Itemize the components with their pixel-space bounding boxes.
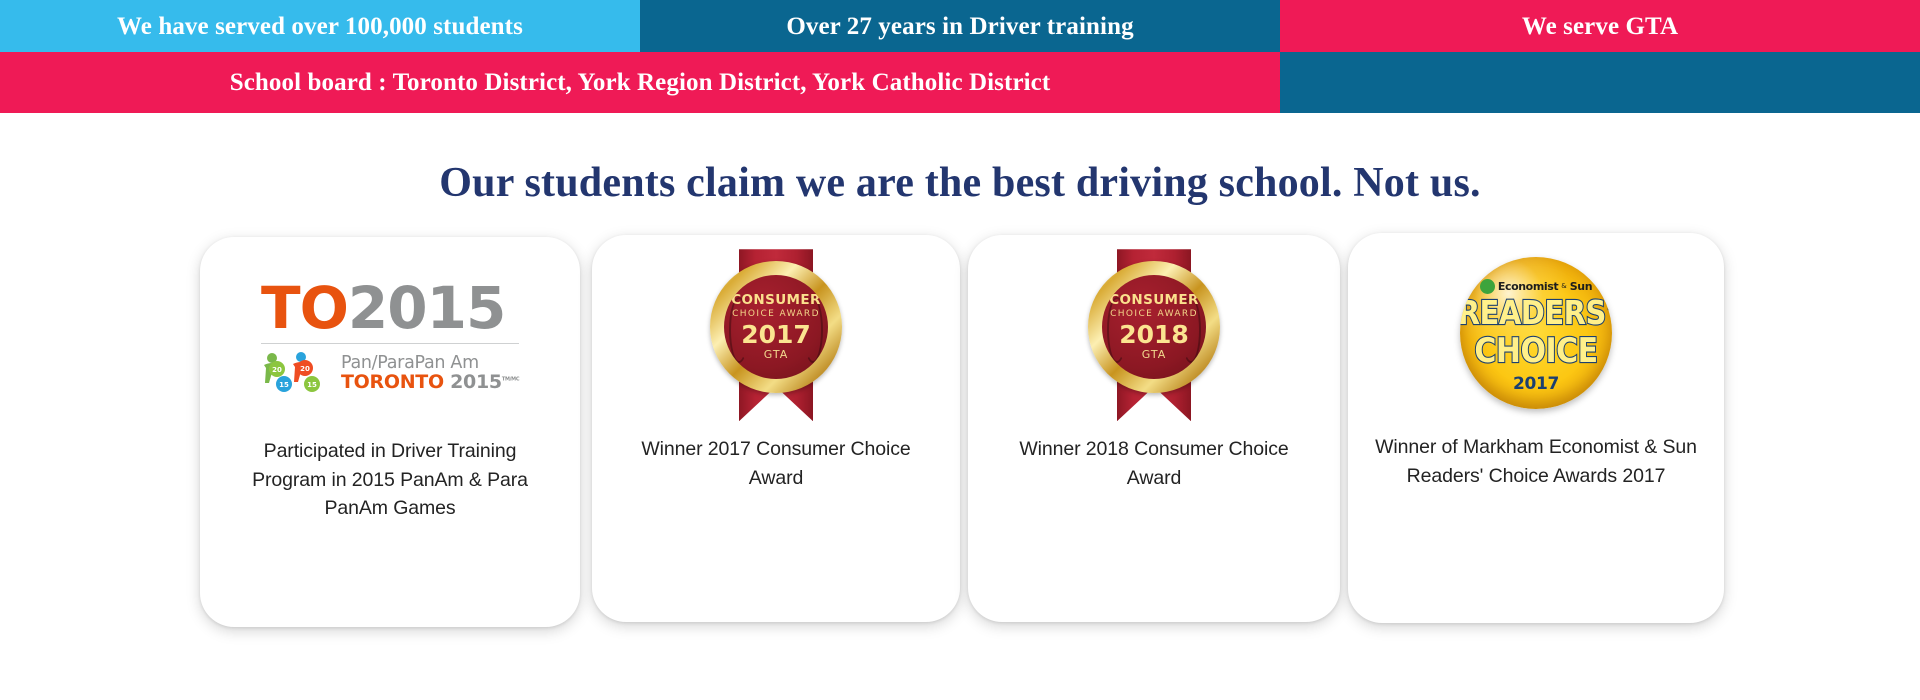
medal-region: GTA [1142, 349, 1167, 360]
promo-banner-row-2: School board : Toronto District, York Re… [0, 52, 1920, 113]
promo-banner-row-1: We have served over 100,000 students Ove… [0, 0, 1920, 52]
card-consumer-choice-2018[interactable]: CONSUMER CHOICE AWARD 2018 GTA Winner 20… [968, 235, 1340, 622]
cca-2018-badge-area: CONSUMER CHOICE AWARD 2018 GTA [968, 235, 1340, 435]
card-caption: Winner 2018 Consumer Choice Award [1001, 435, 1306, 492]
banner-students-label: We have served over 100,000 students [117, 14, 523, 39]
promo-banner: We have served over 100,000 students Ove… [0, 0, 1920, 113]
card-caption: Winner of Markham Economist & Sun Reader… [1371, 433, 1702, 490]
green-dot-icon [1480, 279, 1495, 294]
banner-students: We have served over 100,000 students [0, 0, 640, 52]
publisher-ampersand: & [1561, 283, 1566, 290]
section-heading-wrapper: Our students claim we are the best drivi… [0, 113, 1920, 206]
toronto-city-text: TORONTO [341, 371, 444, 393]
to2015-sublogo-text: Pan/ParaPan Am TORONTO 2015TM/MC [341, 354, 519, 393]
medal-line-1: CONSUMER [731, 294, 821, 308]
readers-choice-line-2: CHOICE [1474, 335, 1597, 369]
to2015-wordmark: TO2015 [255, 279, 525, 337]
consumer-choice-award-medal-icon: CONSUMER CHOICE AWARD 2017 GTA [706, 249, 846, 421]
readers-choice-orb: Economist & Sun READERS' CHOICE 2017 [1460, 257, 1612, 409]
to2015-panam-logo: TO2015 20 15 [255, 279, 525, 395]
medal-face: CONSUMER CHOICE AWARD 2017 GTA [724, 275, 828, 379]
consumer-choice-award-medal-icon: CONSUMER CHOICE AWARD 2018 GTA [1084, 249, 1224, 421]
banner-years-label: Over 27 years in Driver training [786, 14, 1133, 39]
medal-coin-icon: CONSUMER CHOICE AWARD 2017 GTA [710, 261, 842, 393]
publisher-economist: Economist [1498, 281, 1558, 292]
publisher-lockup: Economist & Sun [1480, 279, 1592, 294]
svg-text:15: 15 [307, 381, 317, 389]
medal-year: 2017 [741, 322, 811, 347]
toronto-year-text: 2015 [450, 371, 502, 393]
panam-badge-area: TO2015 20 15 [200, 237, 580, 437]
medal-face: CONSUMER CHOICE AWARD 2018 GTA [1102, 275, 1206, 379]
trademark-mark: TM/MC [502, 377, 519, 383]
banner-gta-label: We serve GTA [1522, 14, 1678, 39]
readers-choice-award-badge-icon: Economist & Sun READERS' CHOICE 2017 [1460, 257, 1612, 409]
readers-choice-line-1: READERS' [1460, 297, 1612, 329]
medal-region: GTA [764, 349, 789, 360]
publisher-sun: Sun [1570, 281, 1592, 292]
readers-choice-year: 2017 [1513, 376, 1559, 393]
cca-2017-badge-area: CONSUMER CHOICE AWARD 2017 GTA [592, 235, 960, 435]
panam-pictogram-icon: 20 15 20 15 [261, 351, 333, 395]
toronto-label: TORONTO 2015TM/MC [341, 372, 519, 393]
banner-years: Over 27 years in Driver training [640, 0, 1280, 52]
medal-line-2: CHOICE AWARD [732, 310, 820, 319]
svg-text:20: 20 [300, 365, 310, 373]
panam-label: Pan/ParaPan Am [341, 354, 519, 372]
svg-text:20: 20 [272, 366, 282, 374]
card-caption: Winner 2017 Consumer Choice Award [625, 435, 927, 492]
banner-school-board: School board : Toronto District, York Re… [0, 52, 1280, 113]
card-panam-2015[interactable]: TO2015 20 15 [200, 237, 580, 627]
page-title: Our students claim we are the best drivi… [0, 160, 1920, 206]
card-caption: Participated in Driver Training Program … [234, 437, 546, 522]
banner-filler [1280, 52, 1920, 113]
medal-line-1: CONSUMER [1109, 294, 1199, 308]
medal-line-2: CHOICE AWARD [1110, 310, 1198, 319]
to2015-divider [261, 343, 519, 344]
to2015-year-text: 2015 [348, 274, 505, 342]
card-readers-choice-2017[interactable]: Economist & Sun READERS' CHOICE 2017 Win… [1348, 233, 1724, 623]
banner-gta: We serve GTA [1280, 0, 1920, 52]
to2015-sublogo: 20 15 20 15 Pan/ParaPan Am [255, 351, 525, 395]
to2015-to-text: TO [261, 274, 348, 342]
medal-coin-icon: CONSUMER CHOICE AWARD 2018 GTA [1088, 261, 1220, 393]
medal-year: 2018 [1119, 322, 1189, 347]
banner-school-board-label: School board : Toronto District, York Re… [230, 70, 1051, 95]
card-consumer-choice-2017[interactable]: CONSUMER CHOICE AWARD 2017 GTA Winner 20… [592, 235, 960, 622]
awards-card-list: TO2015 20 15 [0, 231, 1920, 651]
svg-text:15: 15 [279, 381, 289, 389]
readers-choice-badge-area: Economist & Sun READERS' CHOICE 2017 [1348, 233, 1724, 433]
